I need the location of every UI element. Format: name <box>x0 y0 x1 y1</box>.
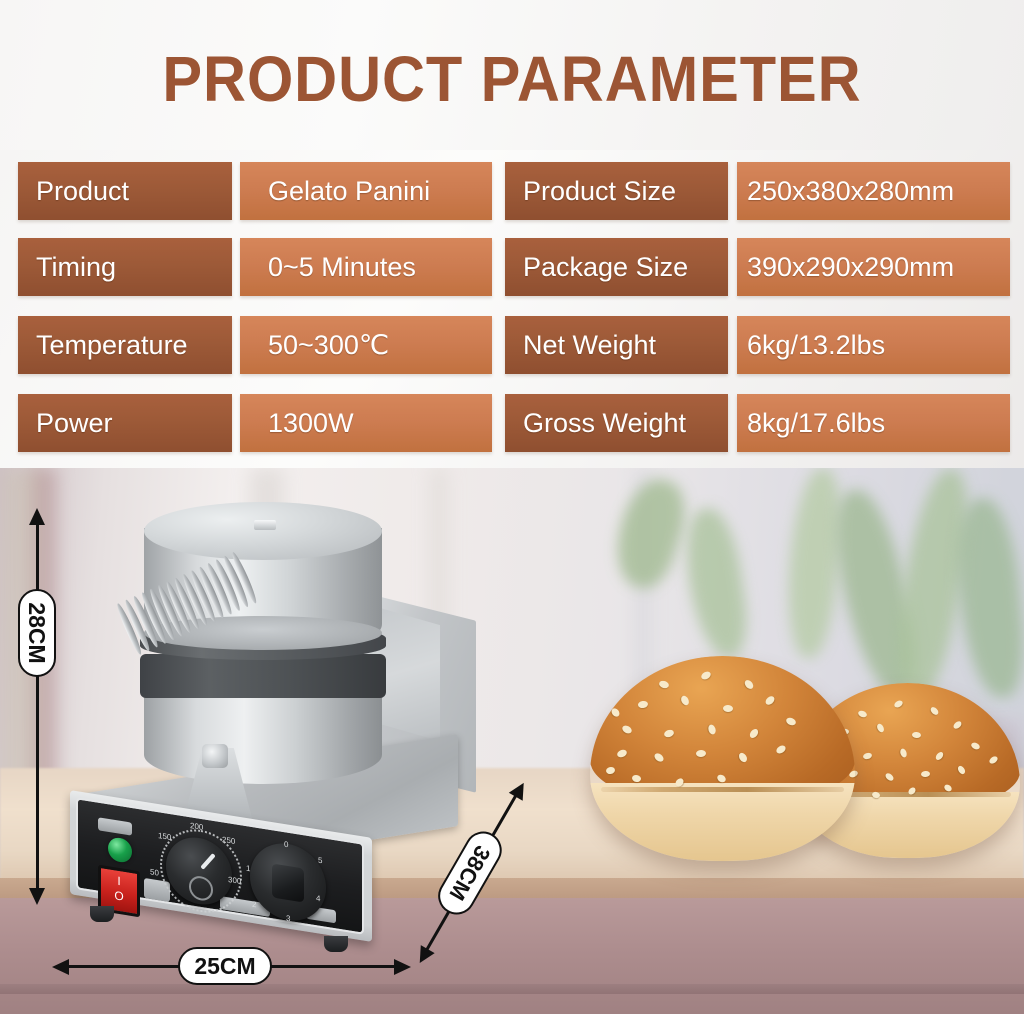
spec-label-net-weight: Net Weight <box>505 316 728 374</box>
thermostat-pointer <box>200 853 215 870</box>
spec-label-timing: Timing <box>18 238 232 296</box>
spec-label-package-size: Package Size <box>505 238 728 296</box>
page-title: PRODUCT PARAMETER <box>36 46 988 112</box>
thermostat-tick-250: 250 <box>222 835 235 846</box>
machine-head-screw <box>254 520 276 530</box>
bun-split-line <box>601 787 845 792</box>
machine-foot <box>90 906 114 922</box>
thermostat-tick-150: 150 <box>158 831 171 842</box>
machine-heat-band-lower <box>140 654 386 698</box>
spec-value-temperature: 50~300℃ <box>240 316 492 374</box>
timer-tick-2: 2 <box>252 900 256 910</box>
thermostat-tick-50: 50 <box>150 867 159 877</box>
table-front-seam <box>0 984 1024 994</box>
thermostat-center-cap <box>189 874 213 902</box>
height-dimension-line <box>36 522 39 892</box>
header-band: PRODUCT PARAMETER <box>0 0 1024 150</box>
power-switch-off-label: O <box>101 887 137 905</box>
timer-tick-3: 3 <box>286 914 290 924</box>
spec-label-product: Product <box>18 162 232 220</box>
spec-table: Product Gelato Panini Timing 0~5 Minutes… <box>0 150 1024 468</box>
width-arrow-right <box>394 959 411 975</box>
height-dimension-label: 28CM <box>18 589 56 677</box>
spec-value-power: 1300W <box>240 394 492 452</box>
spec-value-timing: 0~5 Minutes <box>240 238 492 296</box>
waffle-maker-machine: I O 150 200 250 300 50 0 1 2 <box>62 496 482 966</box>
spec-value-product: Gelato Panini <box>240 162 492 220</box>
machine-head-top <box>144 502 382 560</box>
spec-value-net-weight: 6kg/13.2lbs <box>737 316 1010 374</box>
spec-value-gross-weight: 8kg/17.6lbs <box>737 394 1010 452</box>
width-arrow-left <box>52 959 69 975</box>
spec-label-power: Power <box>18 394 232 452</box>
thermostat-tick-300: 300 <box>228 875 241 886</box>
timer-tick-0: 0 <box>284 840 288 850</box>
width-dimension-label: 25CM <box>178 947 272 985</box>
height-arrow-down <box>29 888 45 905</box>
product-photo: I O 150 200 250 300 50 0 1 2 <box>0 468 1024 1014</box>
machine-hinge-bolt <box>202 744 228 768</box>
timer-tick-1: 1 <box>246 864 250 874</box>
spec-value-product-size: 250x380x280mm <box>737 162 1010 220</box>
spec-value-package-size: 390x290x290mm <box>737 238 1010 296</box>
height-arrow-up <box>29 508 45 525</box>
machine-lower-plate <box>144 686 382 784</box>
product-parameter-infographic: PRODUCT PARAMETER Product Gelato Panini … <box>0 0 1024 1014</box>
bun-front <box>590 656 855 861</box>
timer-tick-4: 4 <box>316 894 320 904</box>
machine-foot <box>324 936 348 952</box>
thermostat-tick-200: 200 <box>190 821 203 832</box>
spec-label-gross-weight: Gross Weight <box>505 394 728 452</box>
spec-label-temperature: Temperature <box>18 316 232 374</box>
spec-label-product-size: Product Size <box>505 162 728 220</box>
timer-tick-5: 5 <box>318 856 322 866</box>
timer-knob-grip <box>272 863 304 902</box>
